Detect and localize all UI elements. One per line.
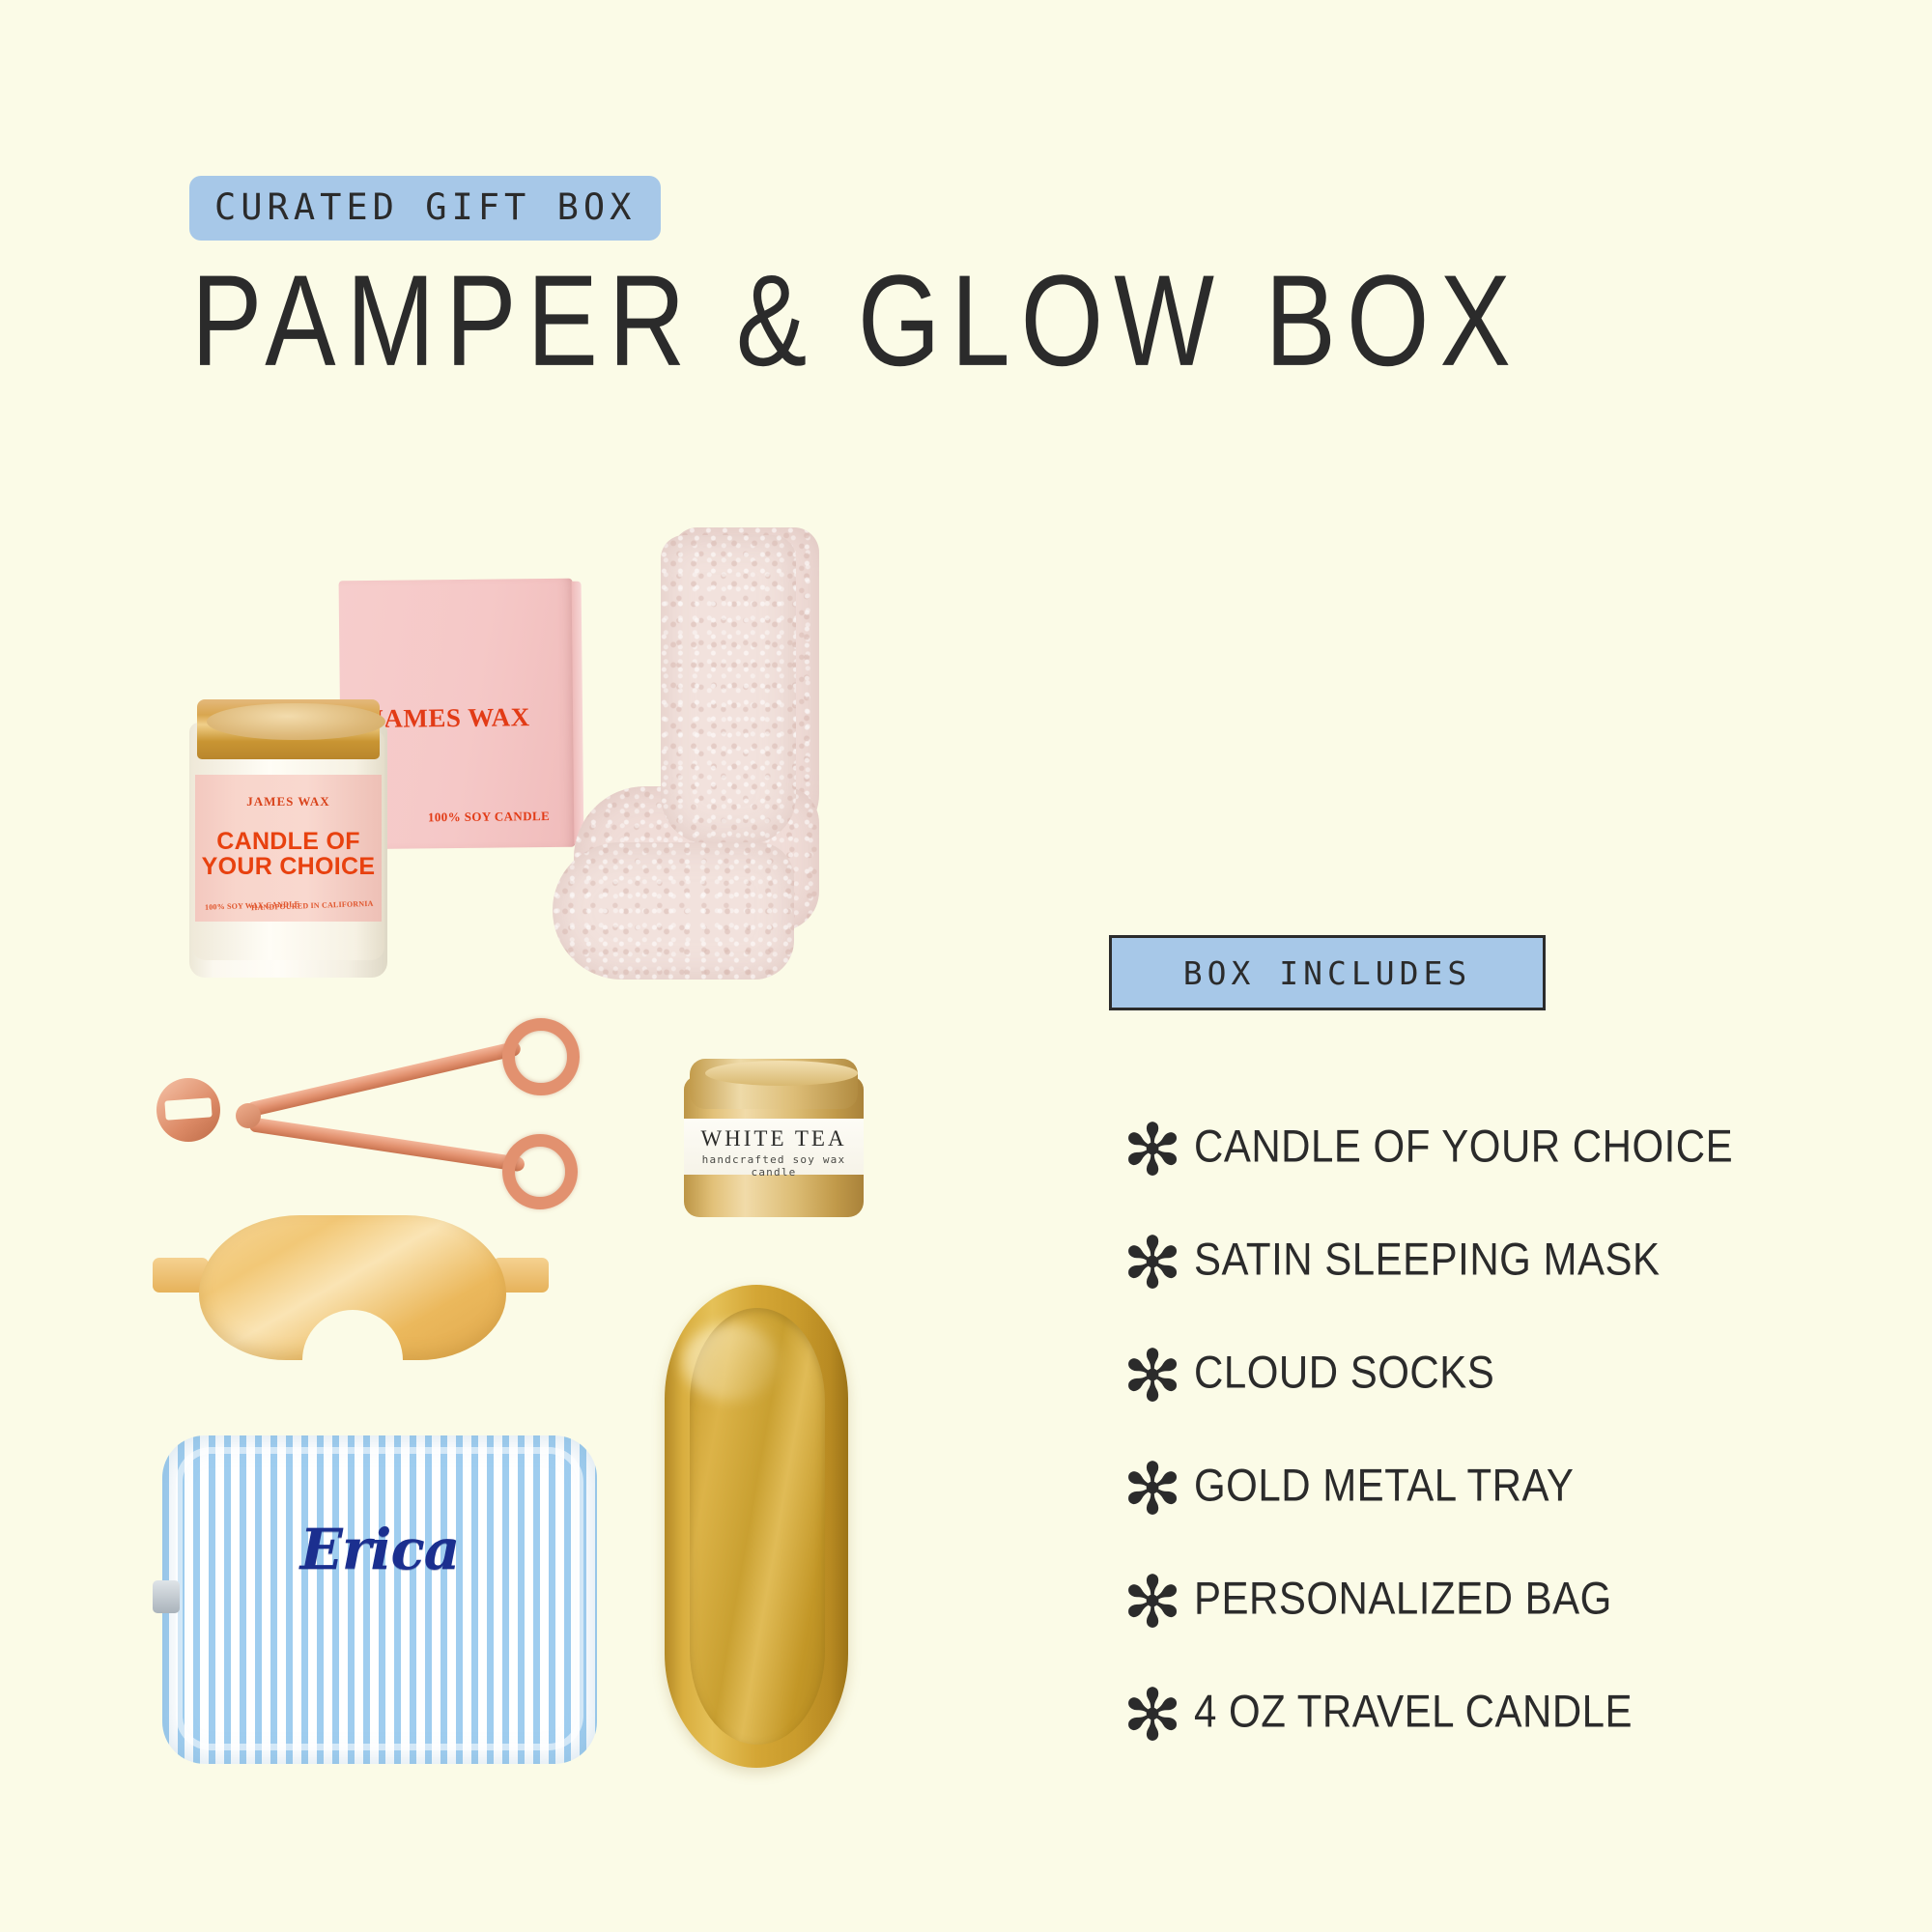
list-item: ✻ GOLD METAL TRAY — [1111, 1429, 1845, 1542]
gold-metal-tray — [665, 1285, 848, 1768]
satin-sleeping-mask — [153, 1215, 549, 1370]
tin-lid — [690, 1059, 858, 1109]
asterisk-icon: ✻ — [1111, 1680, 1194, 1751]
list-item-label: CANDLE OF YOUR CHOICE — [1194, 1121, 1733, 1173]
bag-zipper-pull — [153, 1580, 180, 1613]
tin-scent-name: WHITE TEA — [684, 1126, 864, 1151]
travel-candle-tin: WHITE TEA handcrafted soy wax candle — [682, 1059, 866, 1223]
list-item: ✻ 4 OZ TRAVEL CANDLE — [1111, 1655, 1845, 1768]
asterisk-icon: ✻ — [1111, 1228, 1194, 1299]
sock-front-leg — [661, 535, 796, 844]
candle-carton-footnote: 100% SOY CANDLE — [428, 809, 550, 825]
cloud-socks — [547, 527, 856, 1049]
trimmer-arm-lower — [248, 1117, 526, 1172]
list-item-label: GOLD METAL TRAY — [1194, 1460, 1574, 1512]
trimmer-ring-lower — [502, 1134, 578, 1209]
tin-lid-top — [705, 1061, 858, 1086]
jar-label: JAMES WAX CANDLE OFYOUR CHOICE 100% SOY … — [195, 775, 382, 922]
trimmer-arm-upper — [245, 1040, 522, 1118]
candle-jar: JAMES WAX CANDLE OFYOUR CHOICE 100% SOY … — [189, 682, 387, 978]
page-title: PAMPER & GLOW BOX — [191, 253, 1521, 389]
list-item: ✻ CLOUD SOCKS — [1111, 1316, 1845, 1429]
asterisk-icon: ✻ — [1111, 1454, 1194, 1525]
asterisk-icon: ✻ — [1111, 1115, 1194, 1186]
trimmer-blade-head — [156, 1078, 220, 1142]
asterisk-icon: ✻ — [1111, 1341, 1194, 1412]
bag-piping — [176, 1447, 583, 1750]
tin-subtitle: handcrafted soy wax candle — [684, 1153, 864, 1179]
list-item-label: 4 OZ TRAVEL CANDLE — [1194, 1686, 1633, 1738]
box-includes-heading: BOX INCLUDES — [1109, 935, 1546, 1010]
box-includes-list: ✻ CANDLE OF YOUR CHOICE ✻ SATIN SLEEPING… — [1111, 1090, 1845, 1768]
gift-box-graphic: CURATED GIFT BOX PAMPER & GLOW BOX JAMES… — [0, 0, 1932, 1932]
tray-highlight — [683, 1323, 779, 1401]
list-item-label: CLOUD SOCKS — [1194, 1347, 1494, 1399]
list-item: ✻ CANDLE OF YOUR CHOICE — [1111, 1090, 1845, 1203]
trimmer-pivot — [236, 1103, 261, 1128]
list-item-label: SATIN SLEEPING MASK — [1194, 1234, 1661, 1286]
trimmer-ring-upper — [502, 1018, 580, 1095]
jar-lid-top — [207, 703, 385, 740]
asterisk-icon: ✻ — [1111, 1567, 1194, 1638]
jar-label-brand: JAMES WAX — [195, 794, 382, 810]
tin-label: WHITE TEA handcrafted soy wax candle — [684, 1119, 864, 1175]
personalized-bag: Erica — [162, 1435, 597, 1764]
list-item: ✻ PERSONALIZED BAG — [1111, 1542, 1845, 1655]
bag-monogram: Erica — [162, 1517, 597, 1582]
list-item-label: PERSONALIZED BAG — [1194, 1573, 1612, 1625]
jar-label-headline: CANDLE OFYOUR CHOICE — [195, 829, 382, 880]
eyebrow-badge: CURATED GIFT BOX — [189, 176, 661, 241]
wick-trimmer — [155, 1014, 580, 1217]
mask-body — [199, 1215, 506, 1360]
mask-nose-notch — [302, 1310, 403, 1366]
sock-front-foot — [553, 842, 794, 980]
list-item: ✻ SATIN SLEEPING MASK — [1111, 1203, 1845, 1316]
jar-lid — [197, 699, 380, 759]
